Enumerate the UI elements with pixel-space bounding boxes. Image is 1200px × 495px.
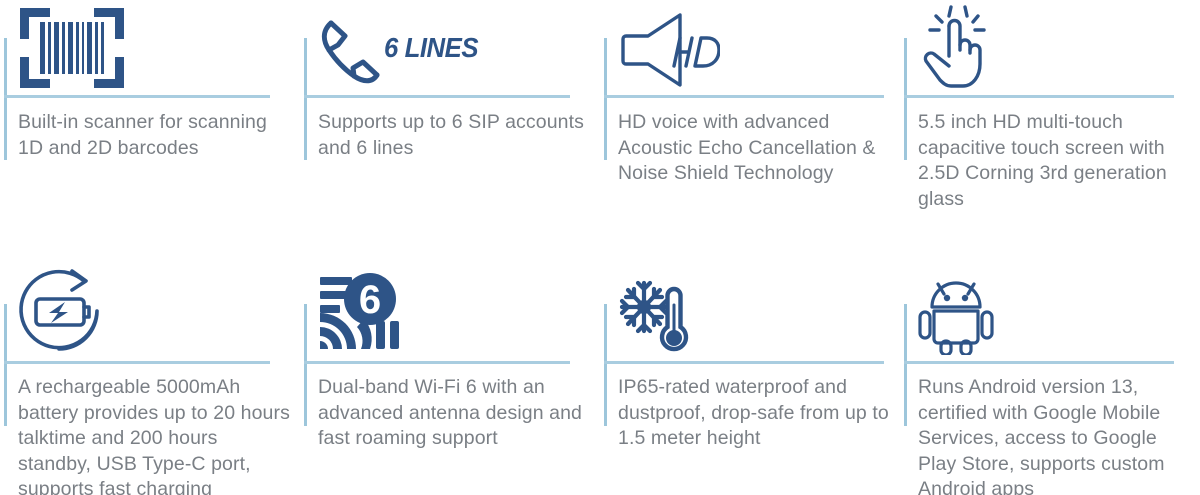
rule-vertical	[904, 38, 907, 160]
feature-description: IP65-rated waterproof and dustproof, dro…	[618, 375, 892, 452]
feature-description: Dual-band Wi-Fi 6 with an advanced anten…	[318, 375, 592, 452]
feature-card-hd-voice: HD voice with advanced Acoustic Echo Can…	[600, 0, 900, 247]
feature-card-wifi6: 6 Dual-band Wi-Fi 6 with an advanced ant…	[300, 247, 600, 495]
rule-horizontal	[4, 361, 270, 364]
rule-horizontal	[604, 95, 884, 98]
android-robot-icon	[918, 265, 994, 355]
feature-card-battery: A rechargeable 5000mAh battery provides …	[0, 247, 300, 495]
rule-vertical	[604, 38, 607, 160]
rule-vertical	[304, 304, 307, 426]
rule-vertical	[604, 304, 607, 426]
feature-grid: Built-in scanner for scanning 1D and 2D …	[0, 0, 1200, 495]
touch-hand-icon	[918, 0, 996, 90]
feature-description: HD voice with advanced Acoustic Echo Can…	[618, 110, 892, 187]
rule-horizontal	[304, 361, 570, 364]
six-lines-label: 6 LINES	[384, 32, 478, 64]
rule-horizontal	[304, 95, 570, 98]
feature-card-touchscreen: 5.5 inch HD multi-touch capacitive touch…	[900, 0, 1200, 247]
rule-vertical	[4, 304, 7, 426]
wifi-6-icon: 6	[318, 265, 406, 355]
feature-card-ip65: IP65-rated waterproof and dustproof, dro…	[600, 247, 900, 495]
rule-vertical	[304, 38, 307, 160]
rule-vertical	[904, 304, 907, 426]
feature-description: Built-in scanner for scanning 1D and 2D …	[18, 110, 292, 161]
rule-horizontal	[904, 95, 1174, 98]
rule-vertical	[4, 38, 7, 160]
feature-description: Runs Android version 13, certified with …	[918, 375, 1192, 495]
feature-description: Supports up to 6 SIP accounts and 6 line…	[318, 110, 592, 161]
snowflake-thermometer-icon	[618, 265, 692, 355]
rule-horizontal	[904, 361, 1174, 364]
feature-card-barcode-scanner: Built-in scanner for scanning 1D and 2D …	[0, 0, 300, 247]
feature-description: A rechargeable 5000mAh battery provides …	[18, 375, 292, 495]
rule-horizontal	[4, 95, 270, 98]
feature-description: 5.5 inch HD multi-touch capacitive touch…	[918, 110, 1192, 212]
svg-text:6: 6	[359, 278, 381, 322]
phone-handset-icon: 6 LINES	[318, 0, 486, 90]
feature-card-six-lines: 6 LINES Supports up to 6 SIP accounts an…	[300, 0, 600, 247]
hd-speaker-icon	[618, 0, 720, 90]
rule-horizontal	[604, 361, 884, 364]
barcode-scanner-icon	[18, 0, 126, 90]
feature-card-android: Runs Android version 13, certified with …	[900, 247, 1200, 495]
rechargeable-battery-icon	[18, 265, 106, 355]
